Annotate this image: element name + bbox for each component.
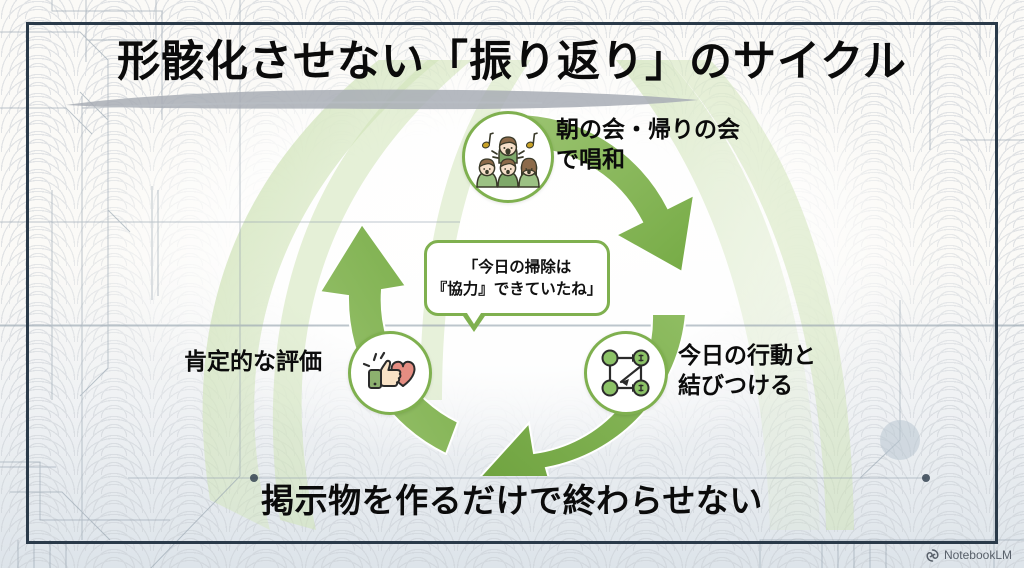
bubble-tail bbox=[461, 313, 487, 332]
label-node-left-line1: 肯定的な評価 bbox=[184, 348, 322, 378]
notebooklm-watermark: NotebookLM bbox=[926, 548, 1012, 562]
singing-group-icon bbox=[472, 121, 544, 193]
label-node-right-line2: 結びつける bbox=[678, 372, 816, 402]
label-node-top: 朝の会・帰りの会 で唱和 bbox=[556, 116, 740, 176]
bubble-line-2: 『協力』できていたね」 bbox=[432, 278, 603, 300]
label-node-right: 今日の行動と 結びつける bbox=[678, 342, 816, 402]
node-network-link[interactable] bbox=[584, 331, 668, 415]
slide-canvas: 形骸化させない「振り返り」のサイクル bbox=[0, 0, 1024, 568]
node-positive-evaluation[interactable] bbox=[348, 331, 432, 415]
footer-message: 掲示物を作るだけで終わらせない bbox=[0, 474, 1024, 522]
page-title: 形骸化させない「振り返り」のサイクル bbox=[0, 38, 1024, 87]
label-node-right-line1: 今日の行動と bbox=[678, 342, 816, 372]
label-node-top-line1: 朝の会・帰りの会 bbox=[556, 116, 740, 146]
center-speech-bubble: 「今日の掃除は 『協力』できていたね」 bbox=[424, 240, 610, 316]
watermark-label: NotebookLM bbox=[944, 548, 1012, 562]
bubble-line-1: 「今日の掃除は bbox=[463, 256, 572, 278]
notebooklm-logo-icon bbox=[926, 549, 939, 562]
thumbs-up-heart-icon bbox=[359, 342, 421, 404]
network-nodes-icon bbox=[595, 342, 657, 404]
node-singing-group[interactable] bbox=[462, 111, 554, 203]
label-node-top-line2: で唱和 bbox=[556, 146, 740, 176]
label-node-left: 肯定的な評価 bbox=[184, 348, 322, 378]
